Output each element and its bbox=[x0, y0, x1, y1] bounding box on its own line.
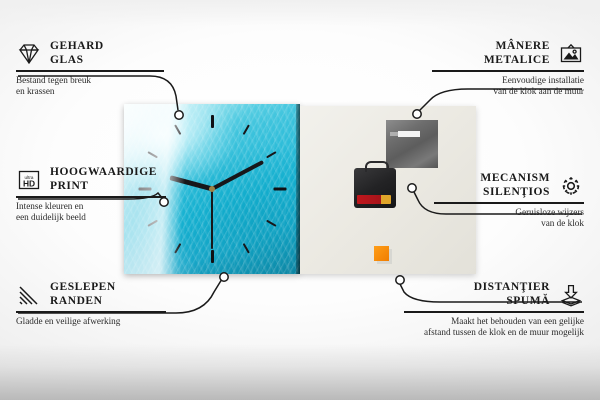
callout-description: Intense kleuren eneen duidelijk beeld bbox=[16, 201, 168, 224]
product-photo-group bbox=[124, 104, 476, 276]
clock-tick bbox=[266, 220, 277, 227]
beveled-edge-icon bbox=[16, 283, 42, 307]
callout-rule bbox=[432, 70, 584, 72]
clock-center-cap bbox=[209, 186, 215, 192]
callout-description: Geruisloze wijzersvan de klok bbox=[434, 207, 584, 230]
infographic-canvas: GEHARDGLAS Bestand tegen breuken krassen… bbox=[0, 0, 600, 400]
callout-description: Maakt het behouden van een gelijkeafstan… bbox=[404, 316, 584, 339]
ultra-hd-icon: ultra HD bbox=[16, 168, 42, 192]
bottom-gradient-band bbox=[0, 344, 600, 400]
callout-title: MECANISMSILENŢIOS bbox=[480, 172, 550, 199]
callout-description: Bestand tegen breuken krassen bbox=[16, 75, 166, 98]
metal-hanger-plate bbox=[386, 120, 438, 168]
callout-description: Gladde en veilige afwerking bbox=[16, 316, 168, 327]
clock-second-hand bbox=[211, 189, 213, 249]
clock-tick bbox=[147, 151, 158, 158]
clock-tick bbox=[243, 243, 250, 254]
clock-tick bbox=[211, 250, 214, 263]
mechanism-bracket bbox=[365, 161, 389, 172]
svg-text:HD: HD bbox=[23, 178, 35, 188]
callout-title: DISTANŢIERSPUMĂ bbox=[474, 281, 550, 308]
callout-geslepen-randen[interactable]: GESLEPENRANDEN Gladde en veilige afwerki… bbox=[16, 281, 168, 327]
callout-gehard-glas[interactable]: GEHARDGLAS Bestand tegen breuken krassen bbox=[16, 40, 166, 97]
callout-rule bbox=[16, 311, 166, 313]
callout-mecanism-silentios[interactable]: MECANISMSILENŢIOS Geruisloze wijzersvan … bbox=[434, 172, 584, 229]
callout-description: Eenvoudige installatievan de klok aan de… bbox=[432, 75, 584, 98]
clock-hour-hand bbox=[169, 175, 213, 191]
callout-manere-metalice[interactable]: MÂNEREMETALICE Eenvoudige installatievan… bbox=[432, 40, 584, 97]
foam-spacer-pad bbox=[374, 246, 389, 261]
foam-spacer-icon bbox=[558, 283, 584, 307]
callout-hoogwaardige-print[interactable]: ultra HD HOOGWAARDIGEPRINT Intense kleur… bbox=[16, 166, 168, 223]
clock-tick bbox=[174, 124, 181, 135]
clock-tick bbox=[211, 115, 214, 128]
clock-mechanism-module bbox=[354, 168, 396, 208]
callout-rule bbox=[404, 311, 584, 313]
callout-distantier-spuma[interactable]: DISTANŢIERSPUMĂ Maakt het behouden van e… bbox=[404, 281, 584, 338]
callout-title: HOOGWAARDIGEPRINT bbox=[50, 166, 157, 193]
hotspot-spacer[interactable] bbox=[396, 276, 404, 284]
gear-icon bbox=[558, 174, 584, 198]
clock-tick bbox=[274, 188, 287, 191]
callout-rule bbox=[434, 202, 584, 204]
battery bbox=[357, 195, 391, 204]
clock-tick bbox=[243, 124, 250, 135]
callout-title: MÂNEREMETALICE bbox=[484, 40, 550, 67]
clock-tick bbox=[266, 151, 277, 158]
callout-rule bbox=[16, 70, 164, 72]
clock-tick bbox=[174, 243, 181, 254]
callout-title: GEHARDGLAS bbox=[50, 40, 104, 67]
diamond-icon bbox=[16, 42, 42, 66]
callout-rule bbox=[16, 196, 166, 198]
callout-title: GESLEPENRANDEN bbox=[50, 281, 116, 308]
top-gradient-band bbox=[0, 0, 600, 26]
picture-frame-icon bbox=[558, 42, 584, 66]
